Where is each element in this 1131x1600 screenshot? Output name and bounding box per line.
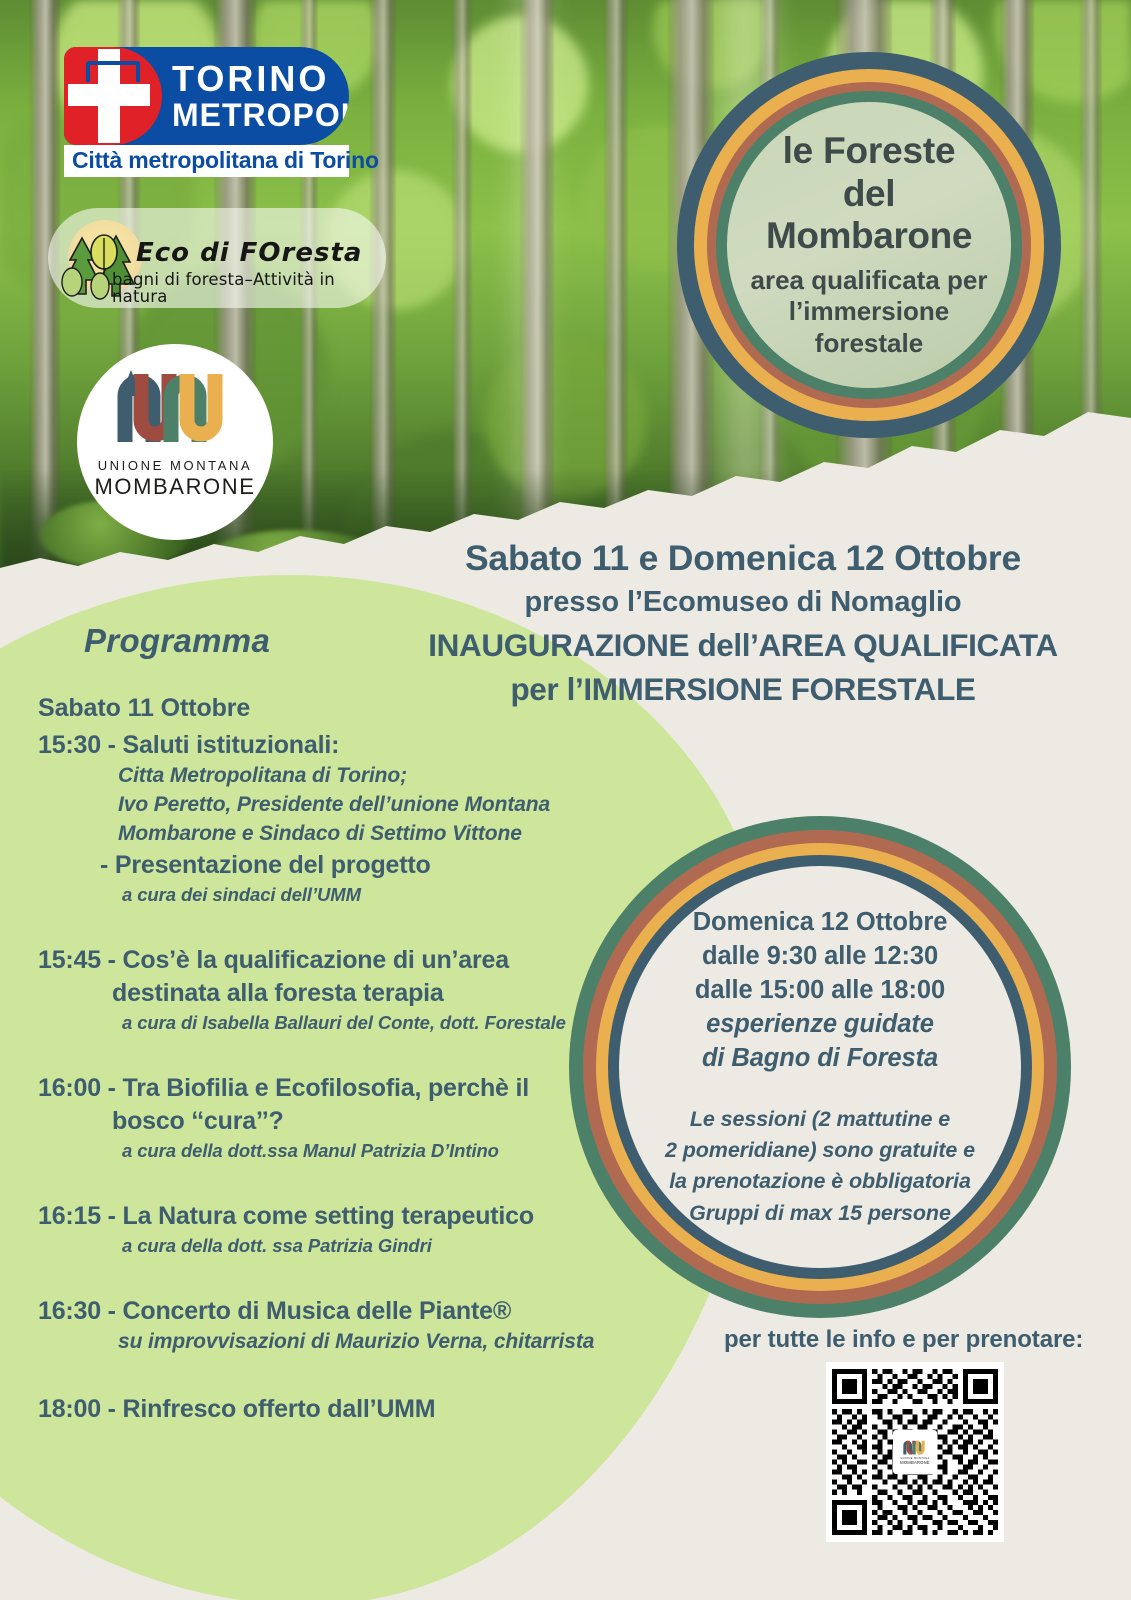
event-header: Sabato 11 e Domenica 12 Ottobre presso l… [398, 535, 1088, 711]
program-speaker: Citta Metropolitana di Torino; [38, 762, 628, 791]
badge-subtitle-line2: l’immersione forestale [745, 296, 993, 359]
program-title: Programma [84, 622, 270, 660]
sunday-time-morning: dalle 9:30 alle 12:30 [702, 939, 938, 973]
logo-torino-metropoli: TORINO METROPOLI Città metropolitana di … [64, 47, 349, 177]
program-item-heading-cont: destinata alla foresta terapia [38, 977, 628, 1010]
sunday-note-line4: Gruppi di max 15 persone [689, 1198, 951, 1229]
torino-line2: METROPOLI [172, 99, 349, 131]
program-credit: a cura di Isabella Ballauri del Conte, d… [38, 1010, 628, 1036]
program-credit: a cura della dott.ssa Manul Patrizia D’I… [38, 1138, 628, 1164]
qr-umm-line2: MOMBARONE [900, 1460, 930, 1465]
badge-title-line2: del Mombarone [745, 173, 993, 258]
badge-ring-red: le Foreste del Mombarone area qualificat… [707, 82, 1032, 409]
program-item-heading: 16:30 - Concerto di Musica delle Piante® [38, 1295, 628, 1328]
program-item-heading-cont: bosco ‘‘cura’’? [38, 1105, 628, 1138]
sunday-title: Domenica 12 Ottobre [693, 905, 948, 939]
sunday-note-line2: 2 pomeridiane) sono gratuite e [665, 1135, 975, 1166]
sunday-ring-amber: Domenica 12 Ottobre dalle 9:30 alle 12:3… [596, 843, 1044, 1291]
program-speaker: Ivo Peretto, Presidente dell’unione Mont… [38, 791, 628, 820]
foreste-mombarone-badge: le Foreste del Mombarone area qualificat… [677, 52, 1061, 438]
sunday-core: Domenica 12 Ottobre dalle 9:30 alle 12:3… [619, 866, 1021, 1268]
program-credit: su improvvisazioni di Maurizio Verna, ch… [38, 1328, 628, 1357]
program-item: 16:00 - Tra Biofilia e Ecofilosofia, per… [38, 1072, 628, 1164]
badge-ring-green: le Foreste del Mombarone area qualificat… [716, 91, 1021, 398]
umm-line2: MOMBARONE [94, 474, 255, 500]
header-title-line1: INAUGURAZIONE dell’AREA QUALIFICATA [398, 623, 1088, 667]
badge-subtitle-line1: area qualificata per [750, 265, 987, 297]
program-item: 15:45 - Cos’è la qualificazione di un’ar… [38, 944, 628, 1036]
program-item: 18:00 - Rinfresco offerto dall’UMM [38, 1393, 628, 1426]
badge-ring-amber: le Foreste del Mombarone area qualificat… [694, 69, 1043, 420]
program-item-heading: 16:00 - Tra Biofilia e Ecofilosofia, per… [38, 1072, 628, 1105]
sunday-activity-line1: esperienze guidate [706, 1007, 934, 1041]
sunday-note-line3: la prenotazione è obbligatoria [669, 1166, 971, 1197]
torino-line1: TORINO [172, 61, 349, 97]
qr-code-container[interactable]: UNIONE MONTANA MOMBARONE [826, 1362, 1004, 1542]
program-list: Sabato 11 Ottobre 15:30 - Saluti istituz… [38, 694, 628, 1426]
program-subitem: - Presentazione del progetto [38, 849, 628, 882]
badge-title-line1: le Foreste [783, 130, 956, 173]
sunday-info-circle: Domenica 12 Ottobre dalle 9:30 alle 12:3… [569, 816, 1071, 1318]
torino-pill: TORINO METROPOLI [64, 47, 349, 145]
umm-interlocking-loops-icon [111, 366, 239, 444]
program-item-heading: 18:00 - Rinfresco offerto dall’UMM [38, 1393, 628, 1426]
crown-icon [86, 61, 140, 82]
program-item-heading: 15:45 - Cos’è la qualificazione di un’ar… [38, 944, 628, 977]
logo-eco-di-foresta: Eco di FOresta bagni di foresta–Attività… [48, 208, 386, 308]
program-item: 16:15 - La Natura come setting terapeuti… [38, 1200, 628, 1259]
program-item: 15:30 - Saluti istituzionali: Citta Metr… [38, 729, 628, 908]
program-credit: a cura dei sindaci dell’UMM [38, 882, 628, 908]
program-day-label: Sabato 11 Ottobre [38, 694, 628, 723]
sunday-ring-red: Domenica 12 Ottobre dalle 9:30 alle 12:3… [583, 830, 1057, 1304]
sunday-note-line1: Le sessioni (2 mattutine e [690, 1104, 950, 1135]
header-dates: Sabato 11 e Domenica 12 Ottobre [398, 535, 1088, 582]
booking-info-text: per tutte le info e per prenotare: [724, 1326, 1083, 1354]
qr-code-icon[interactable]: UNIONE MONTANA MOMBARONE [832, 1368, 998, 1536]
umm-line1: UNIONE MONTANA [98, 458, 253, 473]
poster-root: le Foreste del Mombarone area qualificat… [0, 0, 1131, 1600]
savoy-cross-shield-icon [64, 47, 162, 145]
sunday-time-afternoon: dalle 15:00 alle 18:00 [695, 973, 945, 1007]
logo-unione-montana-mombarone: UNIONE MONTANA MOMBARONE [77, 344, 273, 540]
torino-subtitle: Città metropolitana di Torino [64, 145, 349, 177]
program-credit: a cura della dott. ssa Patrizia Gindri [38, 1233, 628, 1259]
qr-center-umm-logo: UNIONE MONTANA MOMBARONE [893, 1430, 937, 1474]
header-venue: presso l’Ecomuseo di Nomaglio [398, 582, 1088, 623]
sunday-activity-line2: di Bagno di Foresta [702, 1041, 938, 1075]
badge-core: le Foreste del Mombarone area qualificat… [727, 102, 1011, 388]
torino-wordmark: TORINO METROPOLI [172, 61, 349, 131]
umm-interlocking-loops-icon [902, 1439, 928, 1455]
program-speaker: Mombarone e Sindaco di Settimo Vittone [38, 820, 628, 849]
program-item-heading: 15:30 - Saluti istituzionali: [38, 729, 628, 762]
program-item-heading: 16:15 - La Natura come setting terapeuti… [38, 1200, 628, 1233]
eco-wordmark: Eco di FOresta [136, 240, 382, 266]
eco-tagline: bagni di foresta–Attività in natura [112, 272, 386, 305]
sunday-ring-slate: Domenica 12 Ottobre dalle 9:30 alle 12:3… [608, 855, 1032, 1279]
program-item: 16:30 - Concerto di Musica delle Piante®… [38, 1295, 628, 1357]
